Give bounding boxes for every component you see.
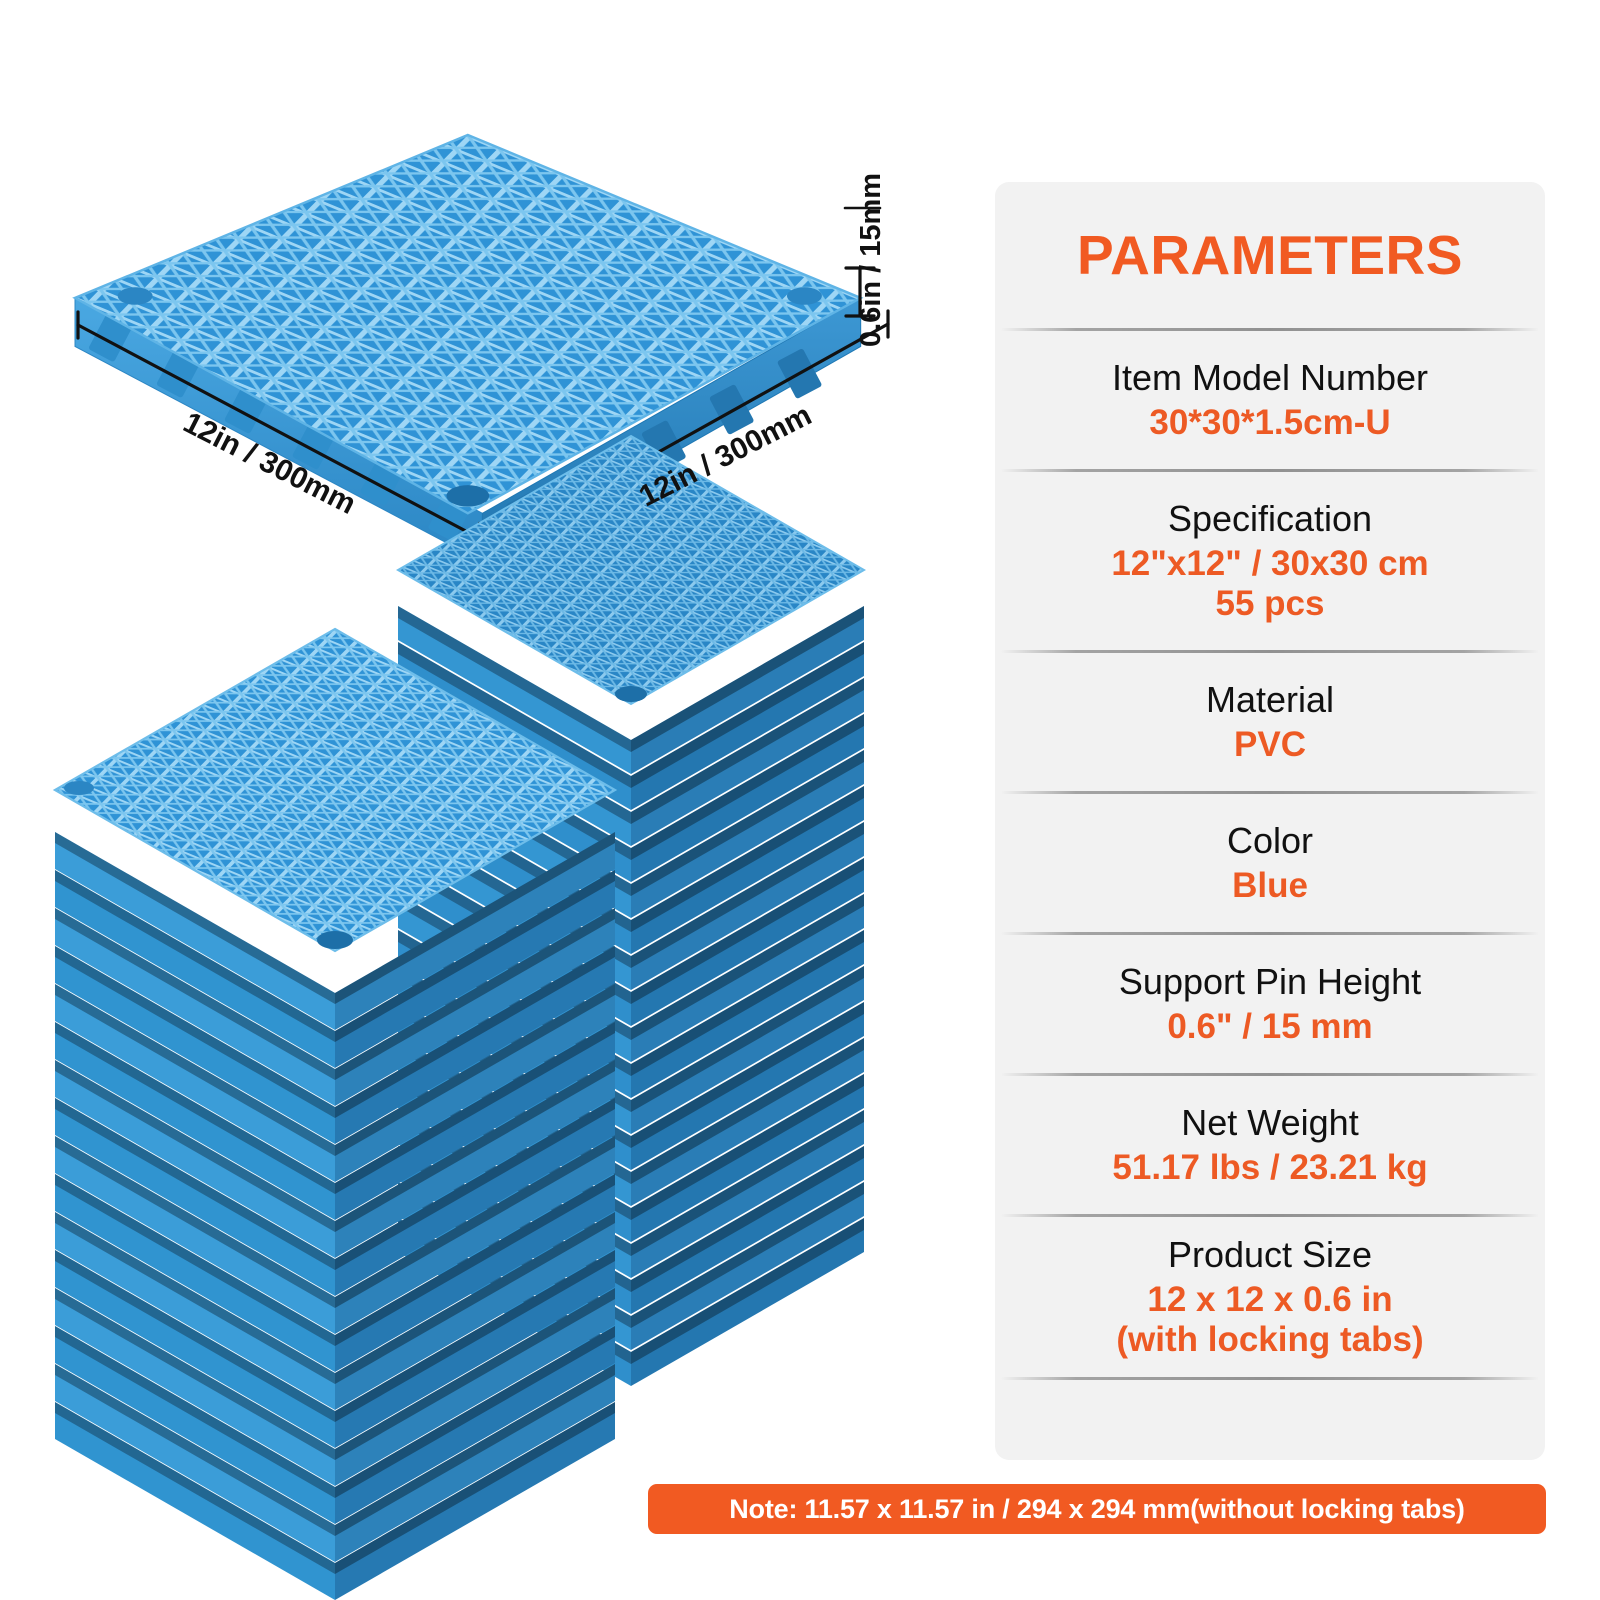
single-tile xyxy=(0,0,960,734)
spec-label: Support Pin Height xyxy=(1119,961,1421,1003)
product-illustration: 12in / 300mm 12in / 300mm 0.6in / 15mm xyxy=(0,0,960,1600)
spec-row-specification: Specification 12"x12" / 30x30 cm 55 pcs xyxy=(995,472,1545,650)
spec-label: Material xyxy=(1206,679,1334,721)
spec-row-support-pin-height: Support Pin Height 0.6" / 15 mm xyxy=(995,935,1545,1073)
note-banner: Note: 11.57 x 11.57 in / 294 x 294 mm(wi… xyxy=(648,1484,1546,1534)
spec-label: Item Model Number xyxy=(1112,357,1428,399)
spec-value: 12 x 12 x 0.6 in xyxy=(1147,1280,1392,1320)
spec-value: PVC xyxy=(1234,725,1306,765)
product-illustration-svg xyxy=(0,0,960,1600)
spec-label: Color xyxy=(1227,820,1313,862)
row-divider xyxy=(1001,1377,1539,1380)
spec-value: 0.6" / 15 mm xyxy=(1167,1007,1372,1047)
spec-label: Product Size xyxy=(1168,1234,1372,1276)
spec-value-line2: (with locking tabs) xyxy=(1116,1320,1423,1360)
spec-value-line2: 55 pcs xyxy=(1216,584,1325,624)
spec-label: Net Weight xyxy=(1181,1102,1358,1144)
note-banner-text: Note: 11.57 x 11.57 in / 294 x 294 mm(wi… xyxy=(729,1494,1464,1525)
page-title: PARAMETERS xyxy=(1077,228,1463,283)
spec-value: Blue xyxy=(1232,866,1308,906)
panel-title-row: PARAMETERS xyxy=(995,182,1545,328)
spec-row-product-size: Product Size 12 x 12 x 0.6 in (with lock… xyxy=(995,1217,1545,1377)
spec-value: 12"x12" / 30x30 cm xyxy=(1111,544,1428,584)
spec-value: 51.17 lbs / 23.21 kg xyxy=(1112,1148,1427,1188)
spec-row-net-weight: Net Weight 51.17 lbs / 23.21 kg xyxy=(995,1076,1545,1214)
dimension-label-height: 0.6in / 15mm xyxy=(855,173,888,347)
parameters-panel: PARAMETERS Item Model Number 30*30*1.5cm… xyxy=(995,182,1545,1460)
spec-row-color: Color Blue xyxy=(995,794,1545,932)
spec-value: 30*30*1.5cm-U xyxy=(1149,403,1390,443)
spec-row-item-model-number: Item Model Number 30*30*1.5cm-U xyxy=(995,331,1545,469)
spec-label: Specification xyxy=(1168,498,1372,540)
spec-row-material: Material PVC xyxy=(995,653,1545,791)
